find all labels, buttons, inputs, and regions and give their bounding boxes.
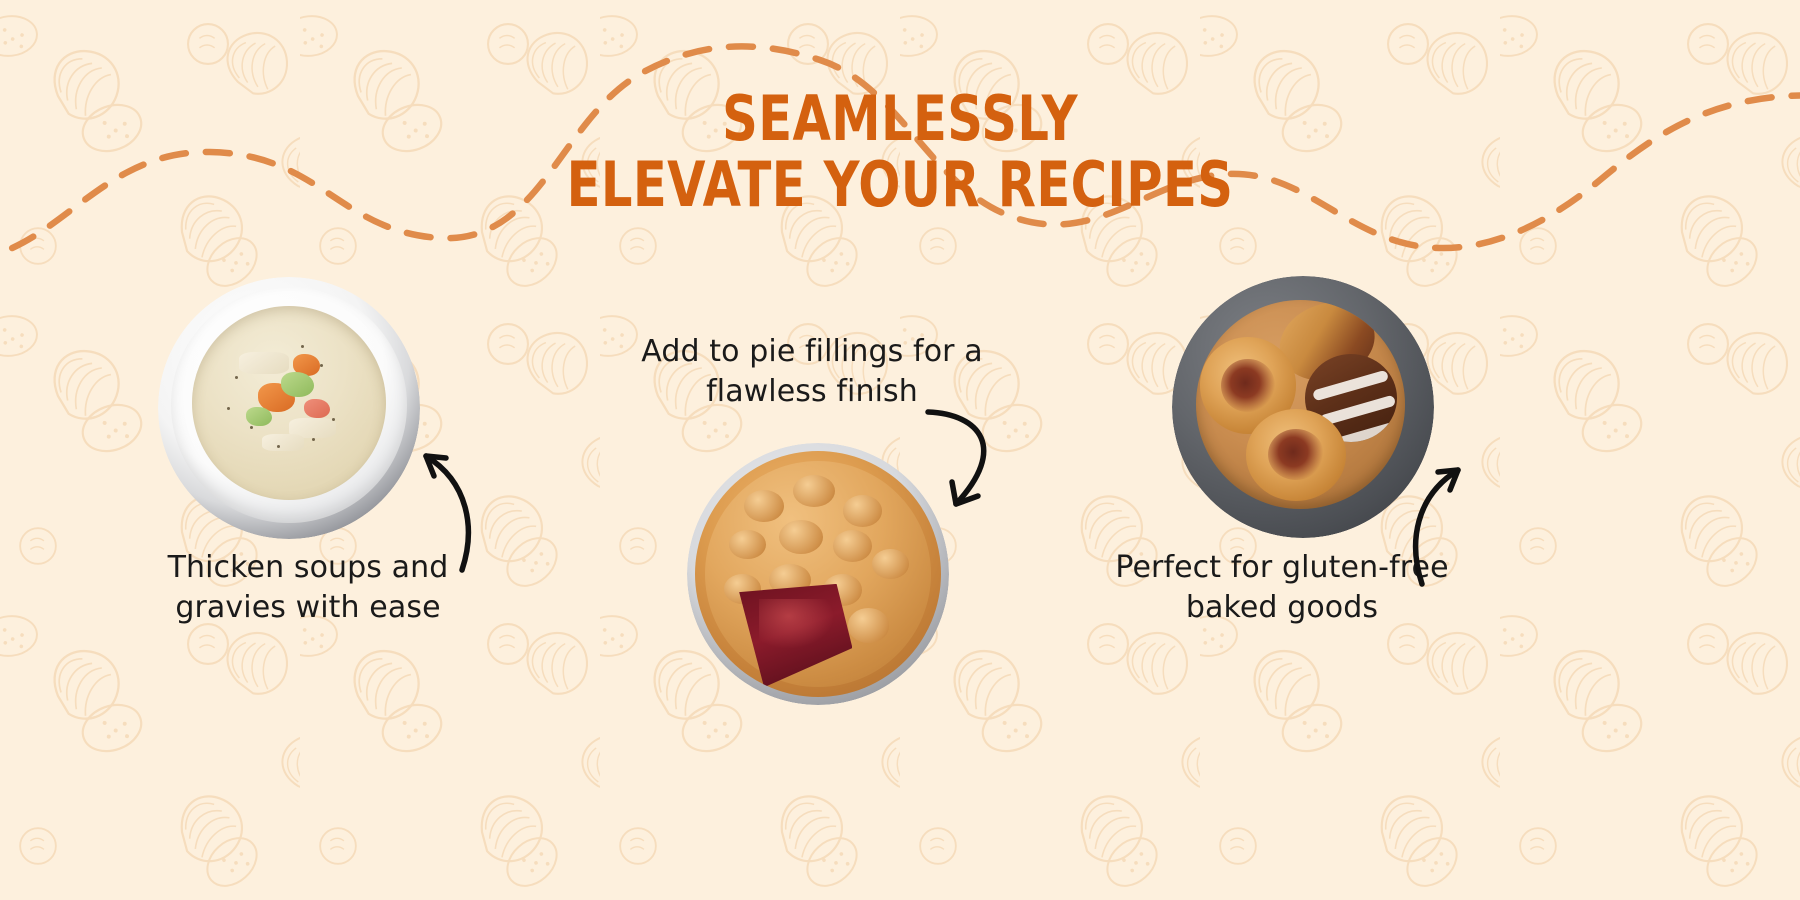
curved-arrow-left [396,424,486,574]
caption-pie-line-1: Add to pie fillings for a [592,332,1032,372]
curved-arrow-down [922,408,1032,518]
cherry-pie-photo [687,443,949,705]
caption-soup-line-2: gravies with ease [108,588,508,628]
infographic-banner: SEAMLESSLY ELEVATE YOUR RECIPES [0,0,1800,900]
pastry-plate-photo [1172,276,1434,538]
soup-bowl-photo [158,277,420,539]
curved-arrow-right [1400,438,1490,588]
caption-pastry-line-2: baked goods [1072,588,1492,628]
caption-pie: Add to pie fillings for a flawless finis… [592,332,1032,412]
caption-pie-line-2: flawless finish [592,372,1032,412]
